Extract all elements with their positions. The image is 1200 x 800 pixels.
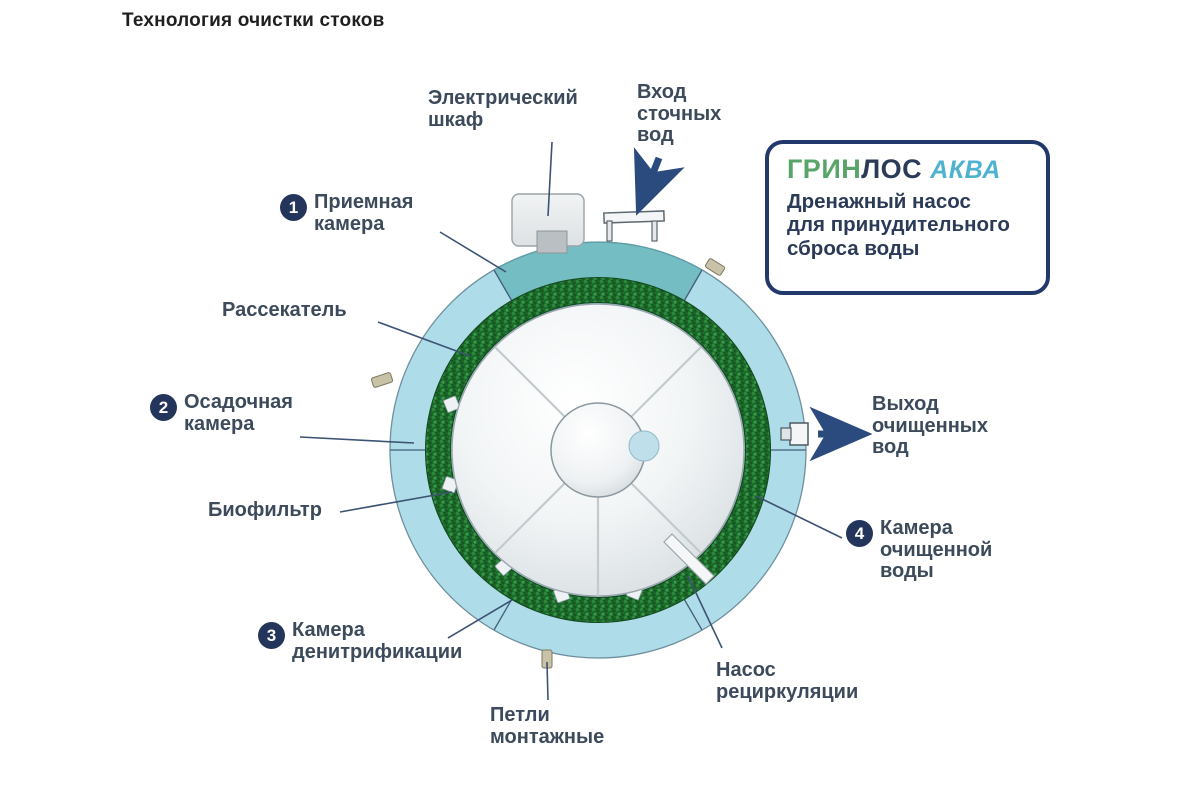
mounting-loops-label: Петли монтажные xyxy=(490,705,604,748)
tank-dome xyxy=(452,304,744,596)
biofilter-label: Биофильтр xyxy=(208,500,322,522)
brand-logo-part3: АКВА xyxy=(930,156,1001,184)
brand-logo-part2: ЛОС xyxy=(861,154,922,184)
brand-description: Дренажный насос для принудительного сбро… xyxy=(787,190,1032,260)
chamber-badge-3: 3 xyxy=(258,622,285,649)
chamber-label-3: Камера денитрификации xyxy=(292,620,462,663)
chamber-callout-1: 1 Приемная камера xyxy=(280,192,413,235)
chamber-label-4: Камера очищенной воды xyxy=(880,518,992,583)
chamber-callout-3: 3 Камера денитрификации xyxy=(258,620,462,663)
electrical-cabinet-label: Электрический шкаф xyxy=(428,88,578,131)
inlet-arrow xyxy=(640,158,659,206)
greenlos-aqua-callout: ГРИНЛОСАКВА Дренажный насос для принудит… xyxy=(765,140,1050,295)
wastewater-inlet-label: Вход сточных вод xyxy=(637,82,721,147)
brand-logo: ГРИНЛОСАКВА xyxy=(787,156,1032,183)
chamber-badge-1: 1 xyxy=(280,194,307,221)
clean-water-outlet-label: Выход очищенных вод xyxy=(872,394,988,459)
chamber-label-2: Осадочная камера xyxy=(184,392,293,435)
chamber-callout-2: 2 Осадочная камера xyxy=(150,392,293,435)
recirculation-pump-label: Насос рециркуляции xyxy=(716,660,858,703)
chamber-callout-4: 4 Камера очищенной воды xyxy=(846,518,992,583)
chamber-badge-2: 2 xyxy=(150,394,177,421)
brand-logo-part1: ГРИН xyxy=(787,154,861,184)
dome-blue-port xyxy=(629,431,659,461)
chamber-badge-4: 4 xyxy=(846,520,873,547)
divider-label: Рассекатель xyxy=(222,300,347,322)
chamber-label-1: Приемная камера xyxy=(314,192,413,235)
wastewater-inlet-pipe xyxy=(604,211,664,241)
